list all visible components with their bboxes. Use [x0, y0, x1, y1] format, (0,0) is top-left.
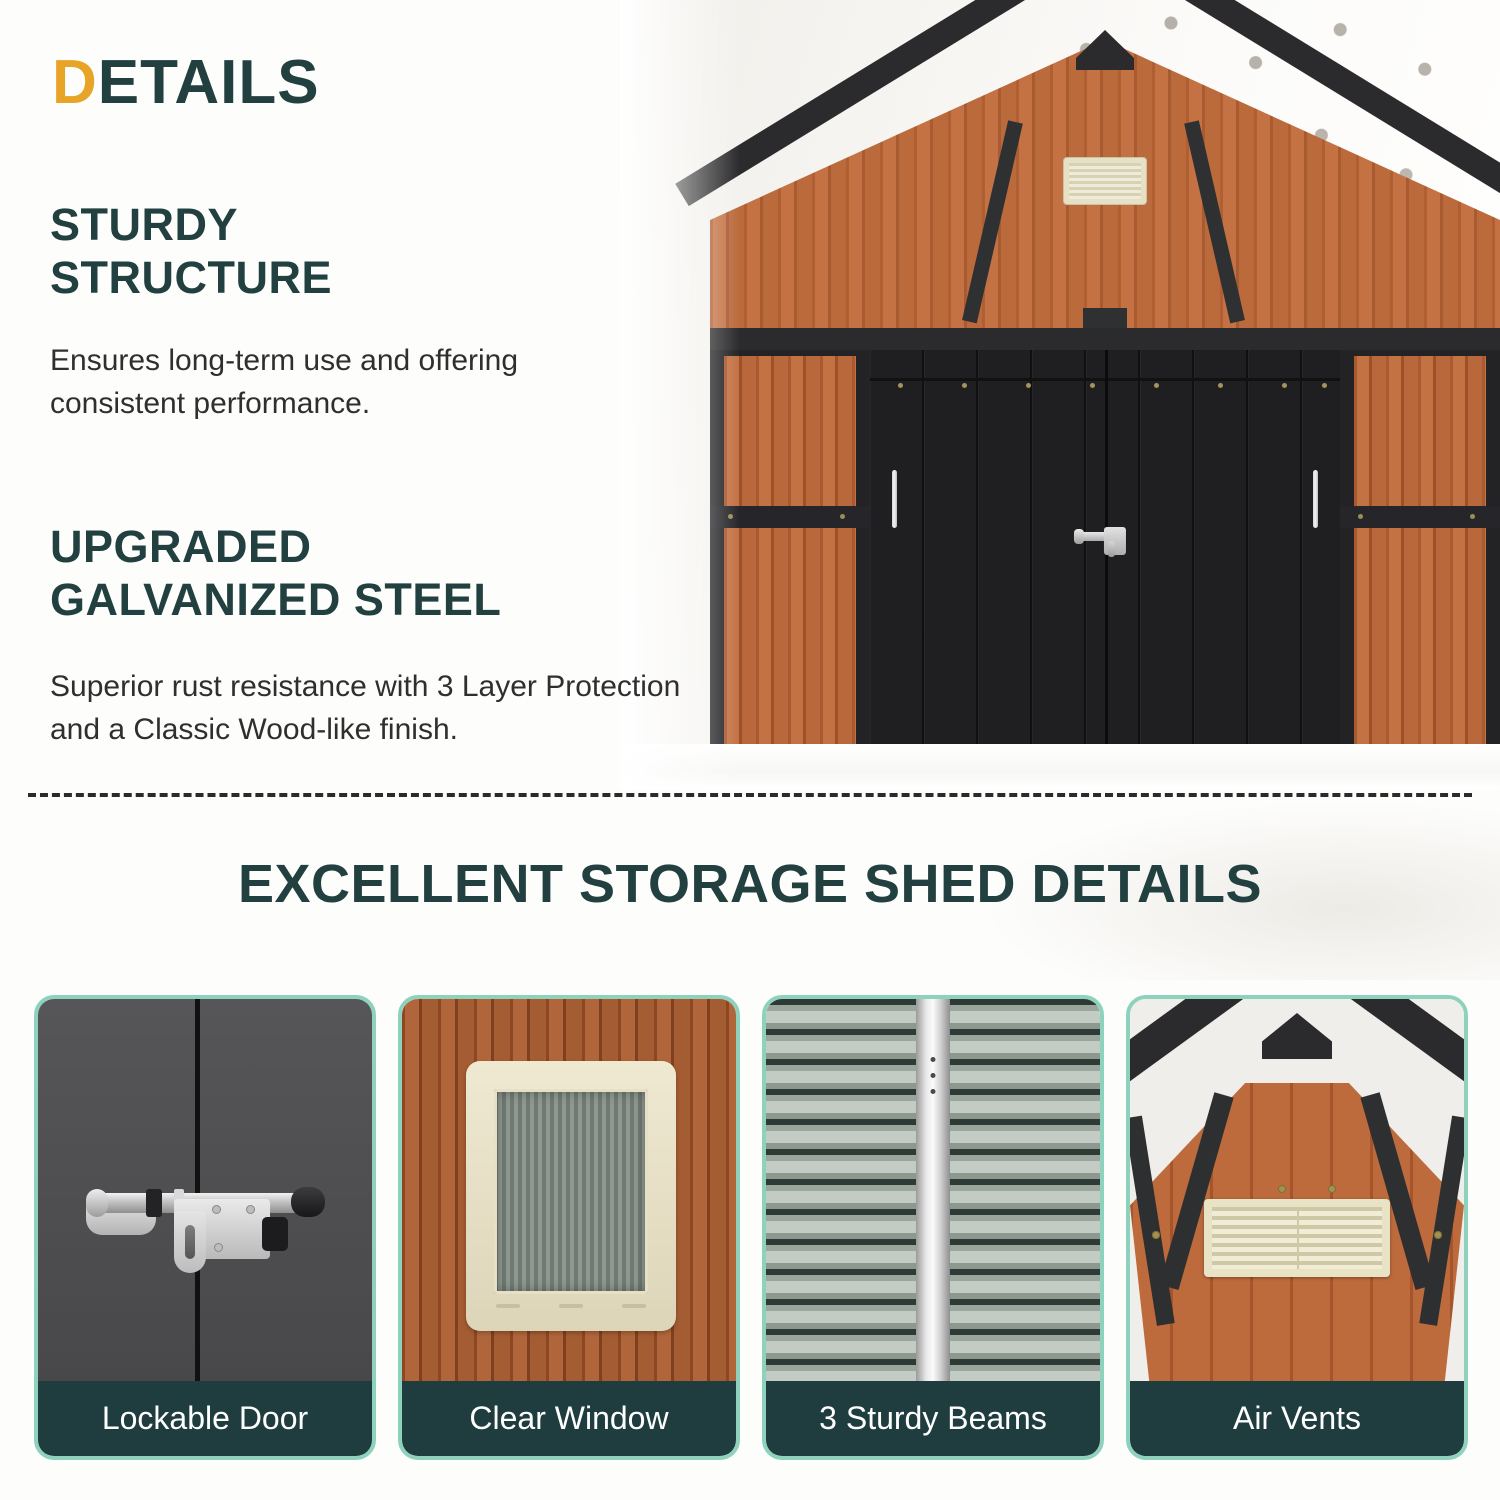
window-tabs — [496, 1304, 646, 1309]
air-vents-image — [1130, 999, 1464, 1389]
hero-ground-strip — [620, 744, 1500, 790]
screw-left — [1152, 1231, 1160, 1239]
slide-bolt-latch-icon — [86, 1177, 336, 1277]
card-caption: 3 Sturdy Beams — [766, 1381, 1100, 1456]
feature-2-heading: UPGRADED GALVANIZED STEEL — [50, 520, 501, 626]
feature-1-heading-line2: STRUCTURE — [50, 251, 332, 304]
wood-side-panel-left — [724, 356, 856, 748]
product-detail-page: DETAILS STURDY STRUCTURE Ensures long-te… — [0, 0, 1500, 1500]
door-handle-left — [892, 470, 897, 528]
window-glass — [494, 1089, 648, 1294]
door-header-band — [710, 328, 1500, 352]
feature-card-lockable-door[interactable]: Lockable Door — [34, 995, 376, 1460]
door-handle-right — [1313, 470, 1318, 528]
hero-shed-photo — [620, 0, 1500, 790]
feature-card-air-vents[interactable]: Air Vents — [1126, 995, 1468, 1460]
wood-side-panel-right — [1354, 356, 1486, 748]
sturdy-beams-image — [766, 999, 1100, 1389]
lockable-door-image — [38, 999, 372, 1389]
screw-mid-right — [1328, 1185, 1336, 1193]
card-caption: Lockable Door — [38, 1381, 372, 1456]
card-caption: Air Vents — [1130, 1381, 1464, 1456]
feature-2-body: Superior rust resistance with 3 Layer Pr… — [50, 666, 730, 751]
feature-2-heading-line1: UPGRADED — [50, 520, 501, 573]
louvered-air-vent-icon — [1204, 1199, 1390, 1277]
feature-1-heading-line1: STURDY — [50, 198, 332, 251]
section-title: EXCELLENT STORAGE SHED DETAILS — [0, 853, 1500, 915]
feature-card-clear-window[interactable]: Clear Window — [398, 995, 740, 1460]
panel-band-right — [1340, 506, 1500, 528]
shed-front-body — [710, 350, 1500, 755]
center-support-beam — [916, 999, 950, 1389]
dashed-divider — [28, 793, 1472, 797]
door-latch-icon — [1078, 525, 1130, 557]
feature-1-body: Ensures long-term use and offering consi… — [50, 340, 650, 425]
feature-card-list: Lockable Door Clear Window 3 Sturdy Beam… — [34, 995, 1468, 1460]
card-caption: Clear Window — [402, 1381, 736, 1456]
page-title-accent-letter: D — [52, 48, 98, 117]
feature-card-sturdy-beams[interactable]: 3 Sturdy Beams — [762, 995, 1104, 1460]
window-frame — [466, 1061, 676, 1331]
feature-1-heading: STURDY STRUCTURE — [50, 198, 332, 304]
feature-2-heading-line2: GALVANIZED STEEL — [50, 573, 501, 626]
storage-shed — [710, 40, 1500, 755]
clear-window-image — [402, 999, 736, 1389]
gable-ridge-cap — [1262, 1013, 1332, 1059]
page-title-rest: ETAILS — [98, 48, 320, 117]
screw-right — [1434, 1231, 1442, 1239]
shed-gable-wall — [710, 40, 1500, 340]
screw-mid-left — [1278, 1185, 1286, 1193]
gable-brace-foot — [1083, 308, 1127, 328]
gable-brace-left — [962, 120, 1023, 323]
gable-air-vent-icon — [1064, 158, 1146, 204]
page-title: DETAILS — [52, 52, 320, 114]
gable-brace-right — [1184, 120, 1245, 323]
shed-double-doors — [870, 350, 1340, 755]
